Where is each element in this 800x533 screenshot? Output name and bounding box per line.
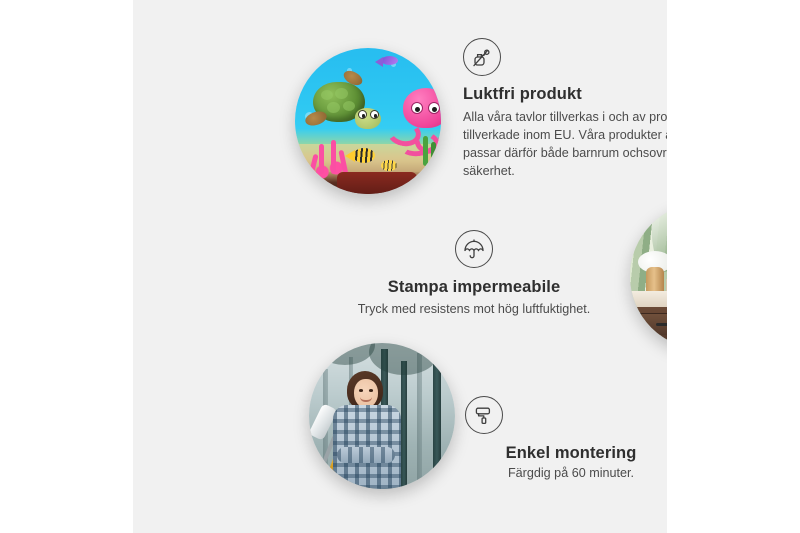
feature-body: Tryck med resistens mot hög luftfuktighe… <box>343 301 605 319</box>
turtle-plate <box>321 90 333 100</box>
photo-woman-with-paint-roller <box>309 343 455 489</box>
tree <box>433 343 441 489</box>
butterfly-fish <box>353 148 375 163</box>
drawer-handle <box>656 323 667 326</box>
small-fish <box>381 160 397 171</box>
coral-branch <box>308 154 318 177</box>
feature-body: Alla våra tavlor tillverkas i och av pro… <box>463 109 667 181</box>
feature-title: Luktfri produkt <box>463 85 667 104</box>
photo-bathroom-botanical-wallpaper <box>630 203 667 349</box>
purple-fish-tail <box>375 57 383 67</box>
promo-banner: Luktfri produkt Alla våra tavlor tillver… <box>0 0 800 533</box>
turtle-eye <box>370 110 379 119</box>
photo-underwater-cartoon-mural <box>295 48 441 194</box>
feature-assembly: Enkel montering Färgdig på 60 minuter. <box>451 396 667 483</box>
woman-face <box>354 379 378 408</box>
countertop <box>630 291 667 307</box>
feature-odourless: Luktfri produkt Alla våra tavlor tillver… <box>463 38 667 181</box>
turtle-plate <box>343 101 355 111</box>
turtle-plate <box>335 88 348 99</box>
purple-fish <box>381 56 398 65</box>
turtle-plate <box>327 102 340 113</box>
bathroom-scene <box>630 203 667 349</box>
octopus-eye <box>411 102 423 114</box>
coral-branch <box>319 144 324 174</box>
tree <box>401 361 407 489</box>
shipwreck <box>337 172 417 194</box>
woman-eye <box>359 389 363 392</box>
feature-title: Enkel montering <box>451 444 667 463</box>
feature-title: Stampa impermeabile <box>343 278 605 297</box>
coral-branch <box>331 140 336 174</box>
seaweed <box>423 136 428 166</box>
octopus-eye <box>428 102 440 114</box>
left-margin <box>0 0 133 533</box>
seaweed <box>431 142 436 166</box>
tree <box>417 353 422 489</box>
ocean-scene <box>295 48 441 194</box>
feature-waterproof: Stampa impermeabile Tryck med resistens … <box>343 230 605 319</box>
umbrella-icon <box>455 230 493 268</box>
wooden-vanity <box>630 307 667 349</box>
right-margin <box>667 0 800 533</box>
bubble-icon <box>307 64 314 71</box>
woman-eye <box>369 389 373 392</box>
no-fragrance-icon <box>463 38 501 76</box>
woman-crossed-arms <box>337 447 395 463</box>
turtle-eye <box>358 110 367 119</box>
butterfly-fish-tail <box>345 150 355 162</box>
content-stage: Luktfri produkt Alla våra tavlor tillver… <box>133 0 667 533</box>
feature-body: Färgdig på 60 minuter. <box>451 465 667 483</box>
bubble-icon <box>325 56 329 60</box>
paint-roller-icon <box>465 396 503 434</box>
painter-scene <box>309 343 455 489</box>
